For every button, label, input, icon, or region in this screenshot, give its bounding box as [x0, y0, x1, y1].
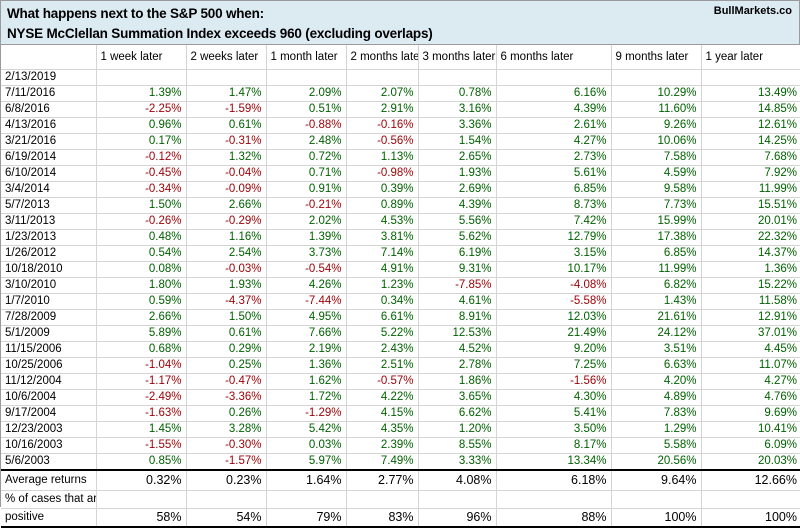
row-date: 10/16/2003	[1, 438, 96, 454]
return-cell: 2.65%	[418, 150, 496, 166]
percent-positive-label-line1: % of cases that are	[1, 491, 96, 509]
return-cell: 2.43%	[346, 342, 418, 358]
brand-watermark: BullMarkets.co	[714, 5, 792, 17]
average-return-value: 4.08%	[418, 470, 496, 491]
return-cell: 9.58%	[611, 182, 701, 198]
return-cell: 9.26%	[611, 118, 701, 134]
return-cell: 14.37%	[701, 246, 800, 262]
return-cell: 5.97%	[266, 454, 346, 471]
column-header-date	[1, 45, 96, 70]
return-cell: 11.07%	[701, 358, 800, 374]
return-cell: 2.66%	[96, 310, 186, 326]
return-cell: 5.62%	[418, 230, 496, 246]
percent-positive-row-top: % of cases that are	[1, 491, 800, 509]
return-cell: -3.36%	[186, 390, 266, 406]
return-cell: 1.20%	[418, 422, 496, 438]
row-date: 3/4/2014	[1, 182, 96, 198]
return-cell: 0.78%	[418, 86, 496, 102]
return-cell: 6.82%	[611, 278, 701, 294]
return-cell: -0.30%	[186, 438, 266, 454]
return-cell: -1.29%	[266, 406, 346, 422]
return-cell: 1.72%	[266, 390, 346, 406]
return-cell: 5.61%	[496, 166, 611, 182]
return-cell: 4.22%	[346, 390, 418, 406]
return-cell: 7.66%	[266, 326, 346, 342]
return-cell: 10.41%	[701, 422, 800, 438]
table-row: 4/13/20160.96%0.61%-0.88%-0.16%3.36%2.61…	[1, 118, 800, 134]
return-cell: 6.63%	[611, 358, 701, 374]
return-cell: 8.17%	[496, 438, 611, 454]
return-cell: 5.42%	[266, 422, 346, 438]
return-cell: -0.03%	[186, 262, 266, 278]
return-cell: 11.99%	[701, 182, 800, 198]
return-cell: 1.13%	[346, 150, 418, 166]
return-cell: -1.04%	[96, 358, 186, 374]
table-row: 6/8/2016-2.25%-1.59%0.51%2.91%3.16%4.39%…	[1, 102, 800, 118]
return-cell: 0.72%	[266, 150, 346, 166]
return-cell: 1.80%	[96, 278, 186, 294]
column-header-2-weeks: 2 weeks later	[186, 45, 266, 70]
return-cell: 5.58%	[611, 438, 701, 454]
return-cell: -0.47%	[186, 374, 266, 390]
average-returns-label: Average returns	[1, 470, 96, 491]
return-cell: 2.02%	[266, 214, 346, 230]
row-date: 6/8/2016	[1, 102, 96, 118]
return-cell: 0.59%	[96, 294, 186, 310]
return-cell: 0.89%	[346, 198, 418, 214]
table-row: 7/28/20092.66%1.50%4.95%6.61%8.91%12.03%…	[1, 310, 800, 326]
table-row: 5/7/20131.50%2.66%-0.21%0.89%4.39%8.73%7…	[1, 198, 800, 214]
return-cell: 0.34%	[346, 294, 418, 310]
return-cell: 0.03%	[266, 438, 346, 454]
row-date: 1/23/2013	[1, 230, 96, 246]
percent-positive-label-line2: positive	[1, 509, 96, 528]
row-date: 11/15/2006	[1, 342, 96, 358]
returns-table: 1 week later 2 weeks later 1 month later…	[1, 45, 800, 528]
table-header-row: 1 week later 2 weeks later 1 month later…	[1, 45, 800, 70]
return-cell: 3.81%	[346, 230, 418, 246]
return-cell: 0.08%	[96, 262, 186, 278]
column-header-9-months: 9 months later	[611, 45, 701, 70]
return-cell: 14.85%	[701, 102, 800, 118]
percent-positive-row-bottom: positive58%54%79%83%96%88%100%100%	[1, 509, 800, 528]
table-row: 6/10/2014-0.45%-0.04%0.71%-0.98%1.93%5.6…	[1, 166, 800, 182]
return-cell: 8.55%	[418, 438, 496, 454]
row-date: 12/23/2003	[1, 422, 96, 438]
return-cell: 2.07%	[346, 86, 418, 102]
return-cell: 4.39%	[418, 198, 496, 214]
percent-positive-value: 79%	[266, 509, 346, 528]
return-cell: 9.69%	[701, 406, 800, 422]
return-cell: 1.36%	[266, 358, 346, 374]
return-cell: -5.58%	[496, 294, 611, 310]
table-row: 3/10/20101.80%1.93%4.26%1.23%-7.85%-4.08…	[1, 278, 800, 294]
return-cell: 2.54%	[186, 246, 266, 262]
return-cell: 12.61%	[701, 118, 800, 134]
return-cell: 3.51%	[611, 342, 701, 358]
return-cell: 2.69%	[418, 182, 496, 198]
return-cell: 2.48%	[266, 134, 346, 150]
table-row: 9/17/2004-1.63%0.26%-1.29%4.15%6.62%5.41…	[1, 406, 800, 422]
return-cell: 3.50%	[496, 422, 611, 438]
column-header-6-months: 6 months later	[496, 45, 611, 70]
average-return-value: 2.77%	[346, 470, 418, 491]
return-cell: -0.56%	[346, 134, 418, 150]
return-cell: 0.71%	[266, 166, 346, 182]
return-cell: 2.19%	[266, 342, 346, 358]
return-cell	[496, 70, 611, 86]
row-date: 7/28/2009	[1, 310, 96, 326]
return-cell: 21.49%	[496, 326, 611, 342]
return-cell: 7.25%	[496, 358, 611, 374]
percent-positive-spacer	[186, 491, 266, 509]
percent-positive-spacer	[418, 491, 496, 509]
return-cell: 20.03%	[701, 454, 800, 471]
return-cell: 6.62%	[418, 406, 496, 422]
return-cell: 2.73%	[496, 150, 611, 166]
return-cell: 4.27%	[701, 374, 800, 390]
return-cell: 24.12%	[611, 326, 701, 342]
return-cell: -1.63%	[96, 406, 186, 422]
return-cell: -2.25%	[96, 102, 186, 118]
table-row: 10/25/2006-1.04%0.25%1.36%2.51%2.78%7.25…	[1, 358, 800, 374]
return-cell: 11.58%	[701, 294, 800, 310]
return-cell: 4.27%	[496, 134, 611, 150]
row-date: 9/17/2004	[1, 406, 96, 422]
return-cell: 12.91%	[701, 310, 800, 326]
return-cell: -0.16%	[346, 118, 418, 134]
return-cell: 0.68%	[96, 342, 186, 358]
table-row: 1/7/20100.59%-4.37%-7.44%0.34%4.61%-5.58…	[1, 294, 800, 310]
return-cell: 0.54%	[96, 246, 186, 262]
table-row: 10/6/2004-2.49%-3.36%1.72%4.22%3.65%4.30…	[1, 390, 800, 406]
return-cell: 0.91%	[266, 182, 346, 198]
return-cell: 0.96%	[96, 118, 186, 134]
percent-positive-value: 100%	[611, 509, 701, 528]
return-cell: 0.85%	[96, 454, 186, 471]
return-cell: 0.29%	[186, 342, 266, 358]
return-cell: 20.56%	[611, 454, 701, 471]
return-cell: 8.91%	[418, 310, 496, 326]
return-cell: 7.14%	[346, 246, 418, 262]
average-return-value: 9.64%	[611, 470, 701, 491]
row-date: 3/21/2016	[1, 134, 96, 150]
return-cell: 1.39%	[96, 86, 186, 102]
return-cell: 5.56%	[418, 214, 496, 230]
return-cell: 15.99%	[611, 214, 701, 230]
return-cell: 1.86%	[418, 374, 496, 390]
return-cell: 6.85%	[496, 182, 611, 198]
return-cell: 1.32%	[186, 150, 266, 166]
title-line-2: NYSE McClellan Summation Index exceeds 9…	[7, 24, 793, 44]
column-header-2-months: 2 months later	[346, 45, 418, 70]
return-cell: -0.09%	[186, 182, 266, 198]
return-cell: 21.61%	[611, 310, 701, 326]
table-row: 10/16/2003-1.55%-0.30%0.03%2.39%8.55%8.1…	[1, 438, 800, 454]
return-cell: 5.41%	[496, 406, 611, 422]
return-cell: 11.99%	[611, 262, 701, 278]
average-return-value: 0.32%	[96, 470, 186, 491]
return-cell	[701, 70, 800, 86]
return-cell: -0.57%	[346, 374, 418, 390]
percent-positive-spacer	[96, 491, 186, 509]
return-cell: 13.49%	[701, 86, 800, 102]
return-cell: 11.60%	[611, 102, 701, 118]
row-date: 5/7/2013	[1, 198, 96, 214]
row-date: 6/10/2014	[1, 166, 96, 182]
return-cell: 4.15%	[346, 406, 418, 422]
percent-positive-value: 96%	[418, 509, 496, 528]
column-header-3-months: 3 months later	[418, 45, 496, 70]
table-row: 11/12/2004-1.17%-0.47%1.62%-0.57%1.86%-1…	[1, 374, 800, 390]
row-date: 2/13/2019	[1, 70, 96, 86]
return-cell: 7.73%	[611, 198, 701, 214]
table-row: 2/13/2019	[1, 70, 800, 86]
return-cell: 1.29%	[611, 422, 701, 438]
return-cell: -0.54%	[266, 262, 346, 278]
return-cell: -2.49%	[96, 390, 186, 406]
return-cell: 1.50%	[96, 198, 186, 214]
return-cell	[96, 70, 186, 86]
return-cell: 3.36%	[418, 118, 496, 134]
return-cell: 4.76%	[701, 390, 800, 406]
return-cell	[611, 70, 701, 86]
return-cell: 1.54%	[418, 134, 496, 150]
return-cell: 1.39%	[266, 230, 346, 246]
return-cell: -4.37%	[186, 294, 266, 310]
return-cell: 2.39%	[346, 438, 418, 454]
return-cell: 3.28%	[186, 422, 266, 438]
return-cell: 4.53%	[346, 214, 418, 230]
percent-positive-value: 100%	[701, 509, 800, 528]
return-cell: -0.29%	[186, 214, 266, 230]
return-cell: 4.35%	[346, 422, 418, 438]
return-cell: -0.12%	[96, 150, 186, 166]
return-cell: 2.51%	[346, 358, 418, 374]
return-cell: 4.91%	[346, 262, 418, 278]
return-cell: 1.43%	[611, 294, 701, 310]
return-cell	[418, 70, 496, 86]
return-cell: 9.20%	[496, 342, 611, 358]
return-cell: 3.15%	[496, 246, 611, 262]
return-cell: 20.01%	[701, 214, 800, 230]
return-cell: -0.98%	[346, 166, 418, 182]
return-cell: 37.01%	[701, 326, 800, 342]
percent-positive-spacer	[346, 491, 418, 509]
return-cell: 10.06%	[611, 134, 701, 150]
return-cell: 0.48%	[96, 230, 186, 246]
table-row: 5/1/20095.89%0.61%7.66%5.22%12.53%21.49%…	[1, 326, 800, 342]
table-body: 2/13/20197/11/20161.39%1.47%2.09%2.07%0.…	[1, 70, 800, 528]
return-cell: 3.65%	[418, 390, 496, 406]
return-cell: -0.04%	[186, 166, 266, 182]
percent-positive-spacer	[611, 491, 701, 509]
average-return-value: 0.23%	[186, 470, 266, 491]
return-cell: 1.62%	[266, 374, 346, 390]
row-date: 3/11/2013	[1, 214, 96, 230]
return-cell	[346, 70, 418, 86]
row-date: 7/11/2016	[1, 86, 96, 102]
return-cell: 15.22%	[701, 278, 800, 294]
return-cell: 1.93%	[186, 278, 266, 294]
row-date: 10/6/2004	[1, 390, 96, 406]
return-cell	[266, 70, 346, 86]
table-row: 5/6/20030.85%-1.57%5.97%7.49%3.33%13.34%…	[1, 454, 800, 471]
table-row: 3/11/2013-0.26%-0.29%2.02%4.53%5.56%7.42…	[1, 214, 800, 230]
row-date: 4/13/2016	[1, 118, 96, 134]
return-cell: 2.09%	[266, 86, 346, 102]
return-cell: 0.39%	[346, 182, 418, 198]
row-date: 5/6/2003	[1, 454, 96, 471]
return-cell: 0.61%	[186, 326, 266, 342]
return-cell: 4.89%	[611, 390, 701, 406]
return-cell: 6.09%	[701, 438, 800, 454]
return-cell: 3.73%	[266, 246, 346, 262]
return-cell: 2.66%	[186, 198, 266, 214]
return-cell: 0.61%	[186, 118, 266, 134]
column-header-1-month: 1 month later	[266, 45, 346, 70]
return-cell: 1.16%	[186, 230, 266, 246]
return-cell: 12.53%	[418, 326, 496, 342]
return-cell: 12.03%	[496, 310, 611, 326]
return-cell: 7.49%	[346, 454, 418, 471]
average-return-value: 6.18%	[496, 470, 611, 491]
percent-positive-spacer	[496, 491, 611, 509]
return-cell: 13.34%	[496, 454, 611, 471]
return-cell: -1.17%	[96, 374, 186, 390]
percent-positive-spacer	[266, 491, 346, 509]
average-return-value: 12.66%	[701, 470, 800, 491]
table-row: 1/26/20120.54%2.54%3.73%7.14%6.19%3.15%6…	[1, 246, 800, 262]
table-row: 3/21/20160.17%-0.31%2.48%-0.56%1.54%4.27…	[1, 134, 800, 150]
return-cell: 4.61%	[418, 294, 496, 310]
return-cell: -0.88%	[266, 118, 346, 134]
row-date: 5/1/2009	[1, 326, 96, 342]
table-row: 7/11/20161.39%1.47%2.09%2.07%0.78%6.16%1…	[1, 86, 800, 102]
return-cell: 6.85%	[611, 246, 701, 262]
table-row: 11/15/20060.68%0.29%2.19%2.43%4.52%9.20%…	[1, 342, 800, 358]
return-cell: 0.26%	[186, 406, 266, 422]
return-cell: -7.44%	[266, 294, 346, 310]
return-cell: 4.30%	[496, 390, 611, 406]
return-cell: -1.59%	[186, 102, 266, 118]
return-cell: -0.21%	[266, 198, 346, 214]
return-cell: 3.33%	[418, 454, 496, 471]
return-cell: 0.25%	[186, 358, 266, 374]
return-cell: 6.19%	[418, 246, 496, 262]
return-cell: -0.31%	[186, 134, 266, 150]
return-cell: 2.91%	[346, 102, 418, 118]
return-cell: 10.29%	[611, 86, 701, 102]
return-cell: 8.73%	[496, 198, 611, 214]
percent-positive-value: 88%	[496, 509, 611, 528]
return-cell: 10.17%	[496, 262, 611, 278]
return-cell: 0.51%	[266, 102, 346, 118]
return-cell: 3.16%	[418, 102, 496, 118]
row-date: 10/18/2010	[1, 262, 96, 278]
table-row: 6/19/2014-0.12%1.32%0.72%1.13%2.65%2.73%…	[1, 150, 800, 166]
return-cell: 4.59%	[611, 166, 701, 182]
return-cell: 6.61%	[346, 310, 418, 326]
return-cell: 15.51%	[701, 198, 800, 214]
percent-positive-value: 54%	[186, 509, 266, 528]
return-cell: 0.17%	[96, 134, 186, 150]
return-cell: -4.08%	[496, 278, 611, 294]
return-cell: 1.23%	[346, 278, 418, 294]
return-cell: 7.68%	[701, 150, 800, 166]
return-cell: 7.92%	[701, 166, 800, 182]
row-date: 1/26/2012	[1, 246, 96, 262]
table-row: 1/23/20130.48%1.16%1.39%3.81%5.62%12.79%…	[1, 230, 800, 246]
return-cell: 12.79%	[496, 230, 611, 246]
return-cell: 4.95%	[266, 310, 346, 326]
return-cell: 2.61%	[496, 118, 611, 134]
return-cell: 2.78%	[418, 358, 496, 374]
return-cell	[186, 70, 266, 86]
average-return-value: 1.64%	[266, 470, 346, 491]
return-cell: -0.34%	[96, 182, 186, 198]
spreadsheet-screenshot: What happens next to the S&P 500 when: N…	[0, 0, 800, 507]
average-returns-row: Average returns0.32%0.23%1.64%2.77%4.08%…	[1, 470, 800, 491]
return-cell: 4.45%	[701, 342, 800, 358]
return-cell: 1.50%	[186, 310, 266, 326]
return-cell: 14.25%	[701, 134, 800, 150]
table-row: 10/18/20100.08%-0.03%-0.54%4.91%9.31%10.…	[1, 262, 800, 278]
percent-positive-spacer	[701, 491, 800, 509]
return-cell: 4.39%	[496, 102, 611, 118]
return-cell: 4.20%	[611, 374, 701, 390]
table-row: 3/4/2014-0.34%-0.09%0.91%0.39%2.69%6.85%…	[1, 182, 800, 198]
return-cell: 4.52%	[418, 342, 496, 358]
return-cell: 9.31%	[418, 262, 496, 278]
return-cell: -7.85%	[418, 278, 496, 294]
column-header-1-week: 1 week later	[96, 45, 186, 70]
return-cell: 1.36%	[701, 262, 800, 278]
row-date: 3/10/2010	[1, 278, 96, 294]
return-cell: -1.56%	[496, 374, 611, 390]
return-cell: 6.16%	[496, 86, 611, 102]
row-date: 11/12/2004	[1, 374, 96, 390]
return-cell: -1.57%	[186, 454, 266, 471]
return-cell: 5.22%	[346, 326, 418, 342]
return-cell: 7.42%	[496, 214, 611, 230]
percent-positive-value: 58%	[96, 509, 186, 528]
return-cell: 7.83%	[611, 406, 701, 422]
return-cell: 1.93%	[418, 166, 496, 182]
return-cell: 7.58%	[611, 150, 701, 166]
return-cell: -0.26%	[96, 214, 186, 230]
row-date: 6/19/2014	[1, 150, 96, 166]
row-date: 1/7/2010	[1, 294, 96, 310]
percent-positive-value: 83%	[346, 509, 418, 528]
return-cell: -1.55%	[96, 438, 186, 454]
return-cell: -0.45%	[96, 166, 186, 182]
return-cell: 5.89%	[96, 326, 186, 342]
return-cell: 4.26%	[266, 278, 346, 294]
return-cell: 1.45%	[96, 422, 186, 438]
title-line-1: What happens next to the S&P 500 when:	[7, 4, 793, 24]
row-date: 10/25/2006	[1, 358, 96, 374]
return-cell: 22.32%	[701, 230, 800, 246]
table-row: 12/23/20031.45%3.28%5.42%4.35%1.20%3.50%…	[1, 422, 800, 438]
return-cell: 1.47%	[186, 86, 266, 102]
title-banner: What happens next to the S&P 500 when: N…	[1, 1, 799, 45]
column-header-1-year: 1 year later	[701, 45, 800, 70]
return-cell: 17.38%	[611, 230, 701, 246]
